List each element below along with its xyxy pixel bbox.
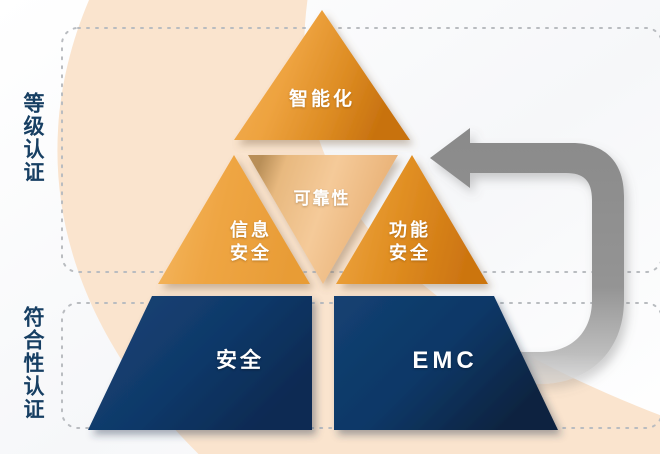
tier-label-compliance: 符合性认证 [22,306,44,421]
diagram-canvas: 等级认证 符合性认证 智能化 可靠性 信息 安全 功能 安全 安全 EMC [0,0,660,454]
pyramid-block-intelligent[interactable] [234,10,410,140]
block-label-funcsafe: 功能 安全 [355,219,465,265]
block-label-intelligent: 智能化 [258,88,386,112]
tier-label-grade: 等级认证 [22,92,44,184]
block-label-safety: 安全 [150,348,330,375]
block-label-infosec: 信息 安全 [196,219,306,265]
block-label-emc: EMC [355,346,535,377]
pyramid-layer [0,0,660,454]
block-label-reliability: 可靠性 [262,188,382,210]
